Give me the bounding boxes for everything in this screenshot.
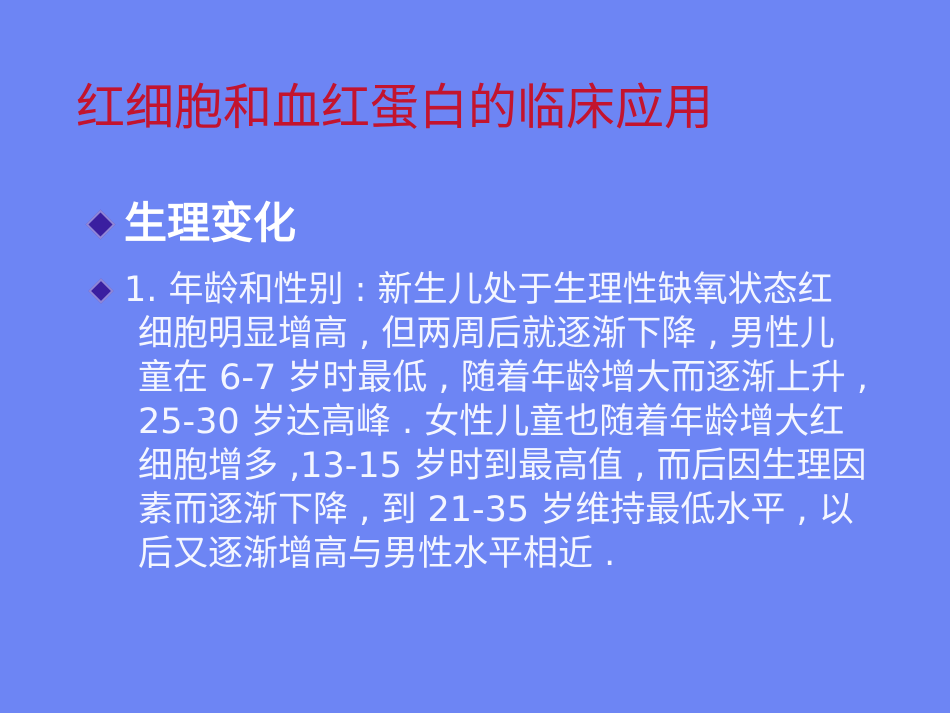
bullet-item-heading: 生理变化 xyxy=(88,196,918,256)
slide-body: 生理变化 1. 年龄和性别 : 新生儿处于生理性缺氧状态红 细胞明显增高 , 但… xyxy=(88,196,918,268)
paragraph-line: 细胞增多 ,13-15 岁时到最高值 , 而后因生理因 xyxy=(138,444,914,488)
paragraph-line: 素而逐渐下降 , 到 21-35 岁维持最低水平 , 以 xyxy=(138,488,914,532)
page-title: 红细胞和血红蛋白的临床应用 xyxy=(76,78,876,138)
paragraph-body: 1. 年龄和性别 : 新生儿处于生理性缺氧状态红 细胞明显增高 , 但两周后就逐… xyxy=(124,268,914,576)
paragraph-line: 25-30 岁达高峰 . 女性儿童也随着年龄增大红 xyxy=(138,400,914,444)
diamond-bullet-icon xyxy=(86,210,116,240)
paragraph-line: 后又逐渐增高与男性水平相近 . xyxy=(138,532,914,576)
diamond-bullet-icon xyxy=(88,278,113,303)
presentation-slide: 红细胞和血红蛋白的临床应用 生理变化 1. 年龄和性别 : 新生儿处于生理性缺氧… xyxy=(0,0,950,713)
paragraph-line: 细胞明显增高 , 但两周后就逐渐下降 , 男性儿 xyxy=(138,312,914,356)
paragraph-line: 1. 年龄和性别 : 新生儿处于生理性缺氧状态红 xyxy=(124,268,914,312)
section-heading-label: 生理变化 xyxy=(124,196,296,252)
paragraph-line: 童在 6-7 岁时最低 , 随着年龄增大而逐渐上升 , xyxy=(138,356,914,400)
